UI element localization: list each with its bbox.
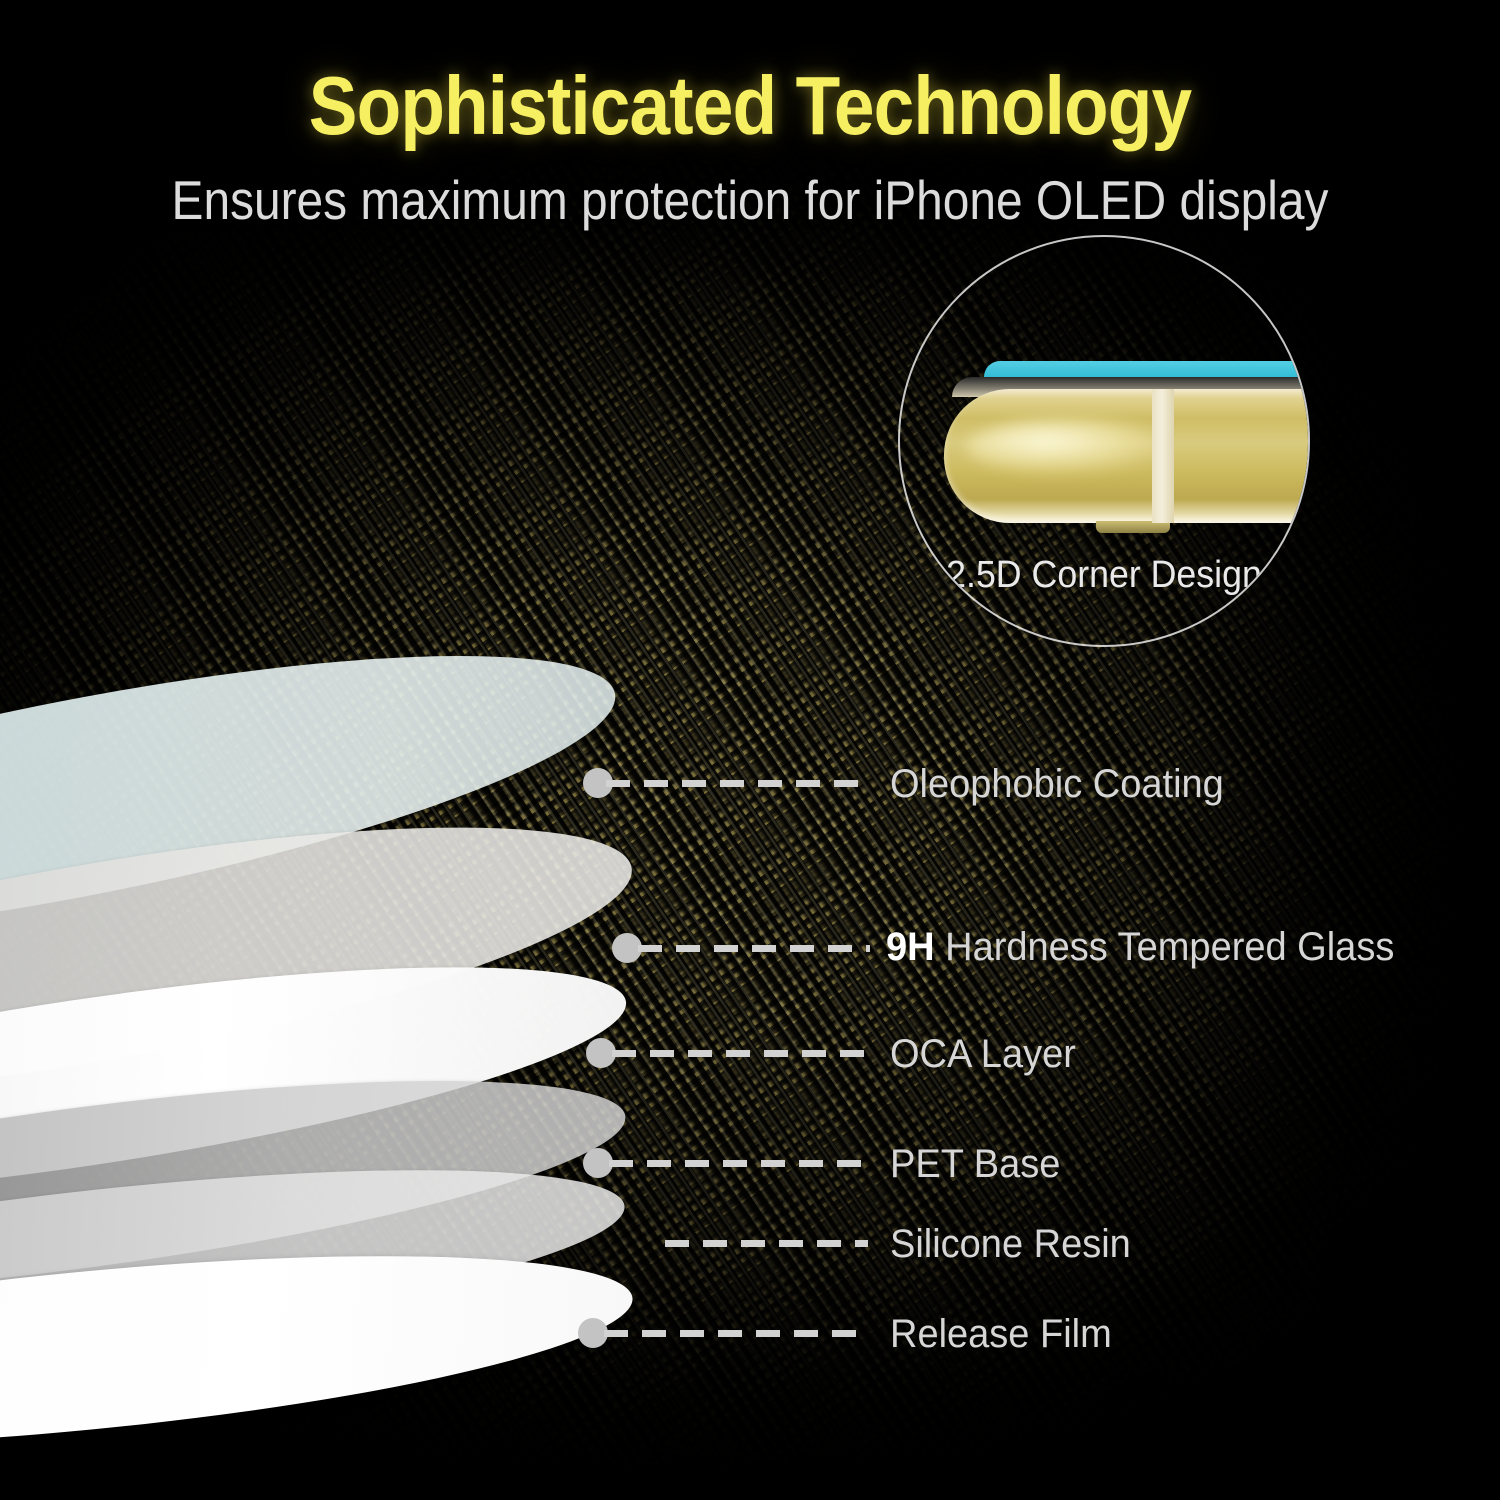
leader-line-release-film bbox=[604, 1330, 868, 1337]
layer-label-text-oleophobic-coating: Oleophobic Coating bbox=[890, 762, 1224, 806]
antenna-band-icon bbox=[1152, 389, 1174, 523]
leader-line-oca-layer bbox=[612, 1050, 868, 1057]
leader-line-pet-base bbox=[609, 1160, 868, 1167]
layer-label-oca-layer: OCA Layer bbox=[890, 1032, 1076, 1077]
leader-line-tempered-glass bbox=[638, 945, 870, 952]
metal-gloss-icon bbox=[966, 419, 1166, 475]
product-feature-graphic: Sophisticated Technology Ensures maximum… bbox=[0, 0, 1500, 1500]
layer-label-text-tempered-glass: Hardness Tempered Glass bbox=[935, 925, 1395, 969]
leader-line-silicone-resin bbox=[665, 1240, 868, 1247]
corner-design-caption: 2.5D Corner Design bbox=[912, 554, 1296, 597]
layer-label-tempered-glass: 9H Hardness Tempered Glass bbox=[886, 925, 1394, 970]
layer-label-pet-base: PET Base bbox=[890, 1142, 1060, 1187]
layer-label-text-pet-base: PET Base bbox=[890, 1142, 1060, 1186]
exploded-layer-stack bbox=[0, 0, 1500, 1500]
layer-label-emphasis-tempered-glass: 9H bbox=[886, 925, 935, 969]
layer-label-text-oca-layer: OCA Layer bbox=[890, 1032, 1076, 1076]
layer-label-release-film: Release Film bbox=[890, 1312, 1112, 1357]
layer-label-text-release-film: Release Film bbox=[890, 1312, 1112, 1356]
leader-line-oleophobic-coating bbox=[606, 780, 868, 787]
layer-label-silicone-resin: Silicone Resin bbox=[890, 1222, 1131, 1267]
layer-label-oleophobic-coating: Oleophobic Coating bbox=[890, 762, 1224, 807]
layer-label-text-silicone-resin: Silicone Resin bbox=[890, 1222, 1131, 1266]
